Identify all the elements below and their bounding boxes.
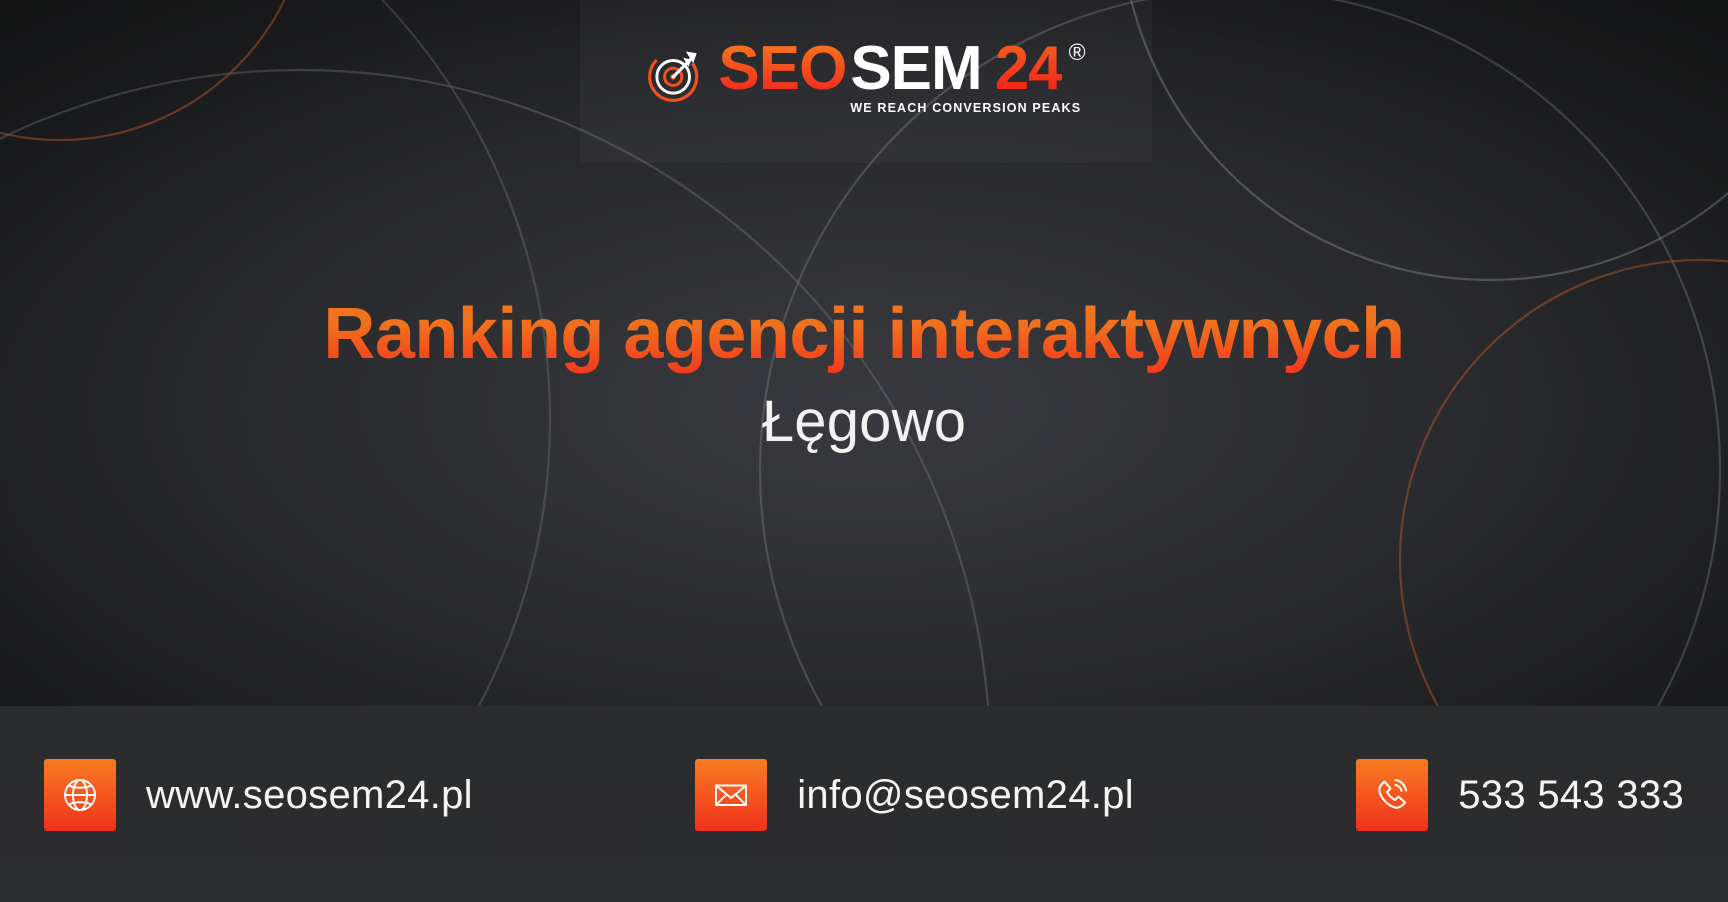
phone-icon bbox=[1356, 759, 1428, 831]
envelope-icon bbox=[695, 759, 767, 831]
contact-website[interactable]: www.seosem24.pl bbox=[44, 759, 473, 831]
phone-label: 533 543 333 bbox=[1458, 773, 1684, 818]
globe-icon bbox=[44, 759, 116, 831]
contact-email[interactable]: info@seosem24.pl bbox=[695, 759, 1134, 831]
contact-phone[interactable]: 533 543 333 bbox=[1356, 759, 1684, 831]
brand-logo: SEO SEM 24 ® WE REACH CONVERSION PEAKS bbox=[646, 40, 1085, 115]
registered-trademark-icon: ® bbox=[1069, 42, 1086, 64]
website-label: www.seosem24.pl bbox=[146, 773, 473, 818]
logo-tagline: WE REACH CONVERSION PEAKS bbox=[850, 101, 1085, 115]
contact-footer-bar: www.seosem24.pl info@seosem24.pl bbox=[0, 706, 1728, 902]
logo-sem-text: SEM bbox=[850, 40, 981, 99]
logo-number-text: 24 bbox=[995, 40, 1062, 99]
target-arrow-icon bbox=[646, 46, 704, 104]
hero-section: Ranking agencji interaktywnych Łęgowo bbox=[0, 296, 1728, 454]
email-label: info@seosem24.pl bbox=[797, 773, 1134, 818]
slide-canvas: SEO SEM 24 ® WE REACH CONVERSION PEAKS R… bbox=[0, 0, 1728, 902]
logo-panel: SEO SEM 24 ® WE REACH CONVERSION PEAKS bbox=[580, 0, 1152, 163]
page-title: Ranking agencji interaktywnych bbox=[0, 296, 1728, 374]
logo-seo-text: SEO bbox=[718, 40, 846, 99]
page-subtitle: Łęgowo bbox=[0, 390, 1728, 454]
